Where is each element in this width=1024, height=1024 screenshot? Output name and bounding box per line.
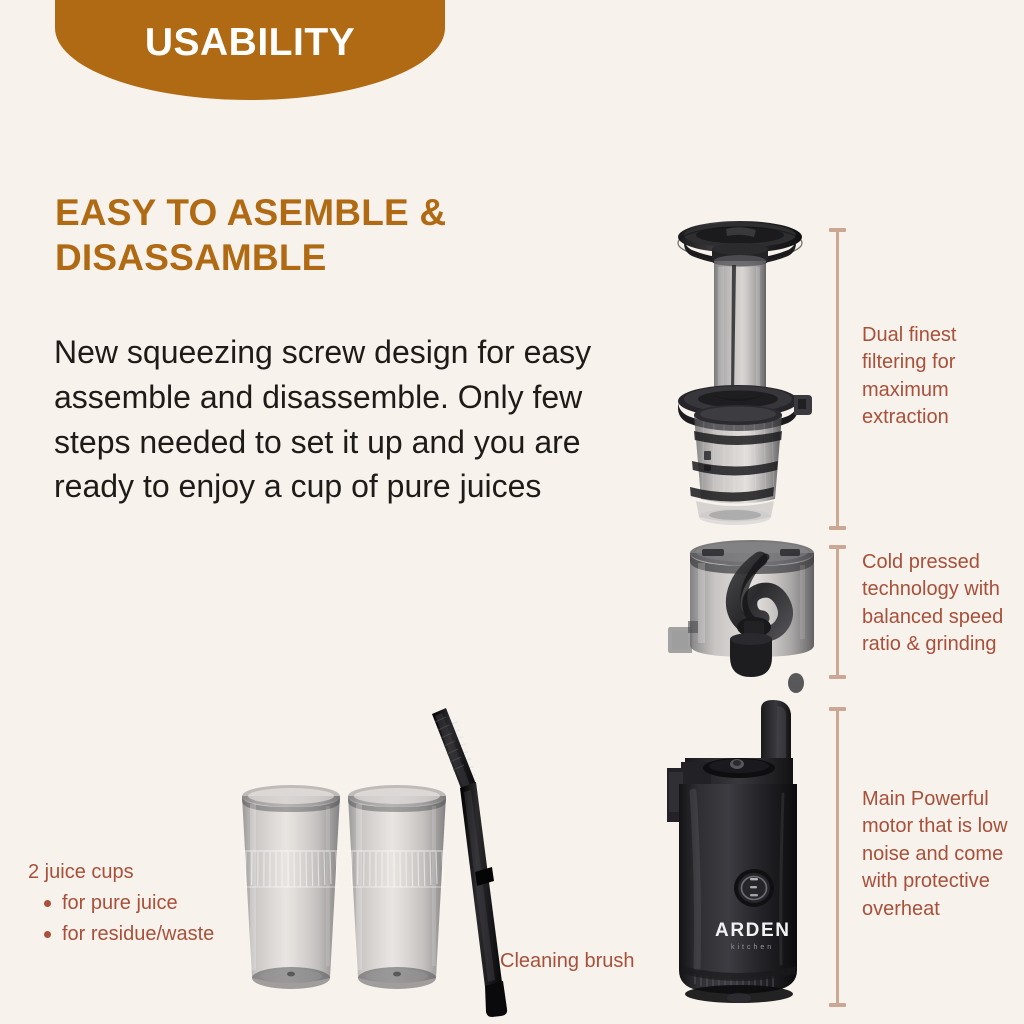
product-image-cups-and-brush [228,700,513,1020]
list-item: for residue/waste [28,920,243,948]
infographic-page: USABILITY EASY TO ASEMBLE & DISASSAMBLE … [0,0,1024,1024]
brand-wordmark: ARDEN [715,920,791,941]
callout-dual-filtering: Dual finest filtering for maximum extrac… [862,322,1017,432]
list-item: for pure juice [28,889,243,917]
callout-main-motor: Main Powerful motor that is low noise an… [862,786,1017,923]
juice-cup-right [348,785,446,989]
page-title: EASY TO ASEMBLE & DISASSAMBLE [55,190,595,280]
juice-cups-list: 2 juice cups for pure juice for residue/… [28,858,243,948]
cleaning-brush [432,708,507,1017]
banner-label: USABILITY [145,23,355,62]
brand-subtext: kitchen [731,944,774,951]
usability-banner: USABILITY [55,0,445,100]
juice-cups-title: 2 juice cups [28,858,243,886]
bracket-stem [836,228,839,530]
juice-cups-bullets: for pure juice for residue/waste [28,889,243,948]
description-paragraph: New squeezing screw design for easy asse… [54,330,634,509]
juice-cup-left [242,785,340,989]
product-image-motor-base: ARDEN kitchen [665,698,840,1010]
cleaning-brush-label: Cleaning brush [500,948,635,974]
product-image-hopper-filter-assembly [660,215,835,535]
product-image-juicing-bowl-auger [668,535,840,697]
callout-cold-pressed: Cold pressed technology with balanced sp… [862,549,1017,659]
